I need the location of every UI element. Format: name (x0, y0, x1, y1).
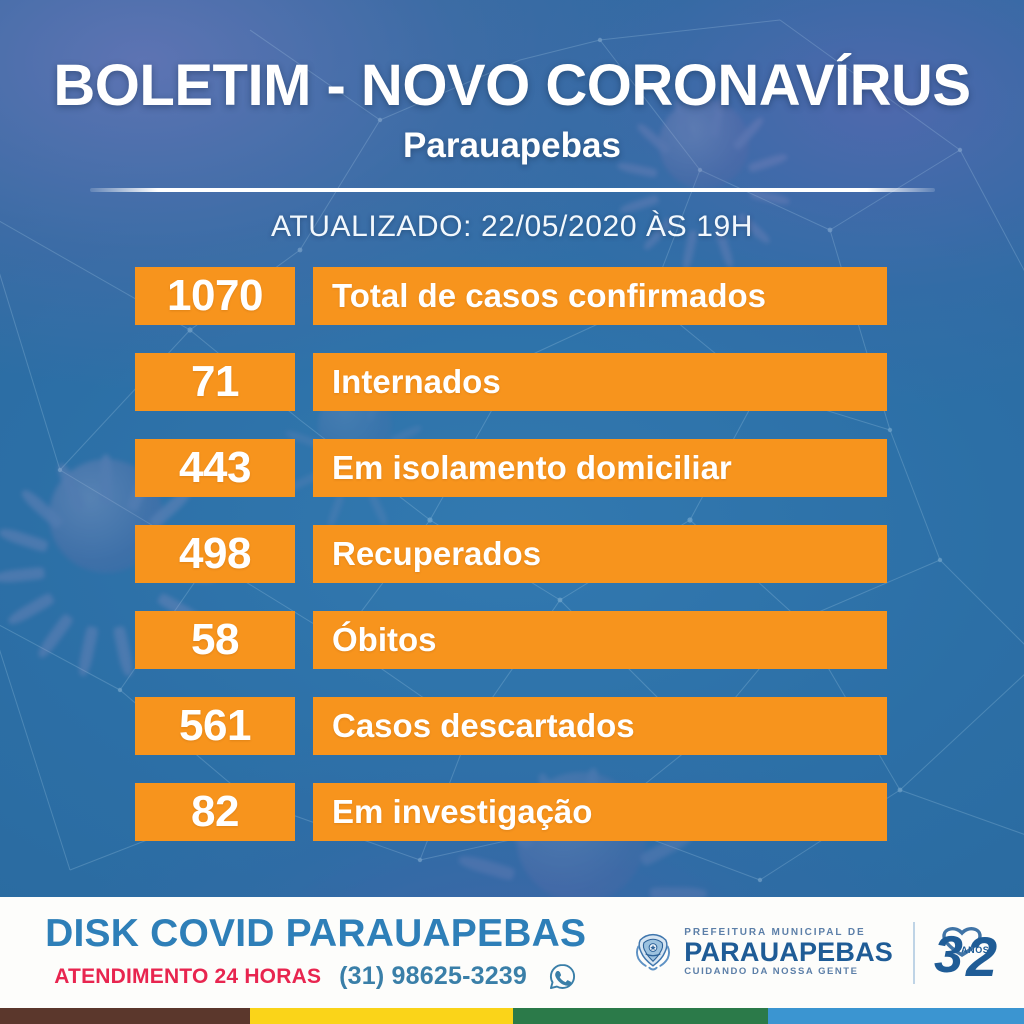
svg-text:3: 3 (934, 926, 963, 984)
city-subtitle: Parauapebas (0, 126, 1024, 166)
stat-row: 498 Recuperados (135, 525, 887, 583)
stat-row: 58 Óbitos (135, 611, 887, 669)
stat-label: Casos descartados (313, 697, 887, 755)
anniversary-32-anos-logo: 3 2 ANOS (932, 922, 1024, 984)
header-divider (90, 188, 935, 192)
stat-value: 443 (135, 439, 295, 497)
stat-value: 82 (135, 783, 295, 841)
disk-covid-contact-row: ATENDIMENTO 24 HORAS (31) 98625-3239 (10, 962, 621, 991)
logo-line-bottom: CUIDANDO DA NOSSA GENTE (684, 967, 893, 977)
stat-row: 82 Em investigação (135, 783, 887, 841)
stat-row: 443 Em isolamento domiciliar (135, 439, 887, 497)
covid-bulletin-poster: BOLETIM - NOVO CORONAVÍRUS Parauapebas A… (0, 0, 1024, 1024)
color-band-blue (768, 1008, 1024, 1024)
stat-label: Em isolamento domiciliar (313, 439, 887, 497)
stat-value: 1070 (135, 267, 295, 325)
prefeitura-logo: PREFEITURA MUNICIPAL DE PARAUAPEBAS CUID… (621, 928, 893, 977)
poster-footer: DISK COVID PARAUAPEBAS ATENDIMENTO 24 HO… (0, 897, 1024, 1008)
logo-line-main: PARAUAPEBAS (684, 939, 893, 966)
stat-label: Total de casos confirmados (313, 267, 887, 325)
stat-value: 58 (135, 611, 295, 669)
page-title: BOLETIM - NOVO CORONAVÍRUS (0, 56, 1024, 116)
logo-divider (913, 922, 915, 984)
stat-label: Óbitos (313, 611, 887, 669)
anos-label: ANOS (961, 945, 989, 955)
stat-row: 1070 Total de casos confirmados (135, 267, 887, 325)
parauapebas-coat-of-arms-icon (631, 931, 675, 975)
stat-label: Recuperados (313, 525, 887, 583)
service-hours-label: ATENDIMENTO 24 HORAS (54, 965, 321, 989)
disk-covid-block: DISK COVID PARAUAPEBAS ATENDIMENTO 24 HO… (0, 914, 621, 991)
color-band-yellow (250, 1008, 513, 1024)
stat-value: 561 (135, 697, 295, 755)
stat-row: 71 Internados (135, 353, 887, 411)
color-band-brown (0, 1008, 250, 1024)
phone-number[interactable]: (31) 98625-3239 (339, 962, 527, 991)
whatsapp-icon[interactable] (548, 962, 577, 991)
prefeitura-logo-text: PREFEITURA MUNICIPAL DE PARAUAPEBAS CUID… (684, 928, 893, 977)
institutional-logos: PREFEITURA MUNICIPAL DE PARAUAPEBAS CUID… (621, 922, 1024, 984)
color-band-green (513, 1008, 768, 1024)
stat-value: 71 (135, 353, 295, 411)
stat-label: Em investigação (313, 783, 887, 841)
stat-value: 498 (135, 525, 295, 583)
stat-row: 561 Casos descartados (135, 697, 887, 755)
poster-header: BOLETIM - NOVO CORONAVÍRUS Parauapebas A… (0, 0, 1024, 244)
statistics-list: 1070 Total de casos confirmados 71 Inter… (135, 267, 887, 841)
last-updated-text: ATUALIZADO: 22/05/2020 ÀS 19H (0, 210, 1024, 244)
disk-covid-title: DISK COVID PARAUAPEBAS (10, 914, 621, 953)
bottom-color-bar (0, 1008, 1024, 1024)
stat-label: Internados (313, 353, 887, 411)
